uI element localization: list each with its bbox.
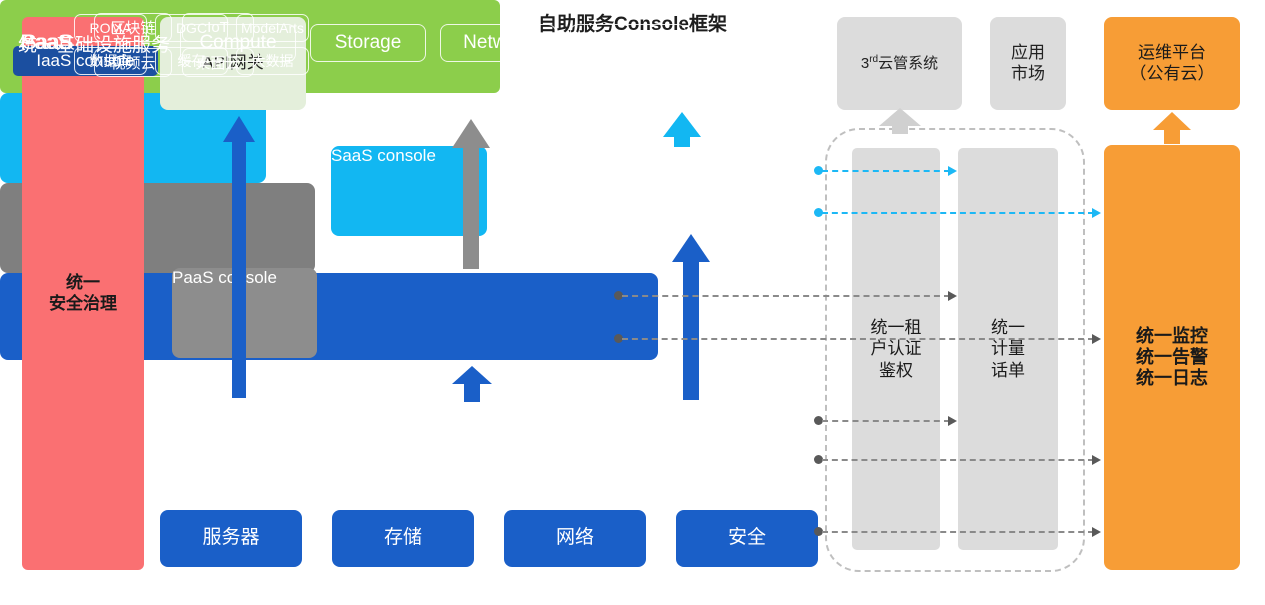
architecture-diagram: 统一 安全治理 API网关 自助服务Console框架 IaaS console… xyxy=(0,0,1265,605)
dashed-infra-to-ops xyxy=(822,459,1094,461)
dashed-saas-to-auth xyxy=(822,170,950,172)
arrowhead-paas-to-ops xyxy=(1092,334,1101,344)
arrow-infra-to-paas xyxy=(452,366,492,402)
arrowhead-infra-to-auth xyxy=(948,416,957,426)
arrowhead-infra-to-ops xyxy=(1092,455,1101,465)
app-market-block: 应用 市场 xyxy=(990,17,1066,110)
app-market-label: 应用 市场 xyxy=(1011,43,1045,83)
infra-chip-cce[interactable]: CCE xyxy=(570,24,686,62)
unified-security-governance-block: 统一 安全治理 xyxy=(22,17,144,570)
hardware-server-block: 服务器 xyxy=(160,510,302,567)
unified-metering-label: 统一 计量 话单 xyxy=(991,317,1025,381)
infra-chip-compute[interactable]: Compute xyxy=(180,24,296,62)
dashed-paas-to-ops xyxy=(622,338,1094,340)
infra-chip-network[interactable]: Network xyxy=(440,24,556,62)
paas-console-button[interactable]: PaaS console xyxy=(172,268,317,358)
unified-infrastructure-label: 统一基础设施服务 xyxy=(18,30,170,57)
ordinal-suffix: rd xyxy=(869,54,878,65)
hardware-security-block: 安全 xyxy=(676,510,818,567)
arrowhead-saas-to-ops xyxy=(1092,208,1101,218)
arrowhead-paas-to-auth xyxy=(948,291,957,301)
dashed-paas-to-auth xyxy=(622,295,950,297)
infra-chip-storage[interactable]: Storage xyxy=(310,24,426,62)
ops-monitoring-column: 统一监控 统一告警 统一日志 xyxy=(1104,145,1240,570)
unified-security-governance-label: 统一 安全治理 xyxy=(49,273,117,313)
dashed-infra-to-auth xyxy=(822,420,950,422)
third-party-cloud-mgmt-block: 3rd云管系统 xyxy=(837,17,962,110)
arrowhead-saas-to-auth xyxy=(948,166,957,176)
unified-auth-column: 统一租 户认证 鉴权 xyxy=(852,148,940,550)
ops-platform-label: 运维平台 （公有云） xyxy=(1130,43,1215,83)
arrowhead-hardware-to-ops xyxy=(1092,527,1101,537)
saas-console-button[interactable]: SaaS console xyxy=(331,146,487,236)
third-party-cloud-mgmt-label: 3rd云管系统 xyxy=(861,54,938,73)
hardware-network-block: 网络 xyxy=(504,510,646,567)
dashed-hardware-to-ops xyxy=(822,531,1094,533)
hardware-storage-block: 存储 xyxy=(332,510,474,567)
arrow-infra-to-saas xyxy=(672,234,710,400)
unified-auth-label: 统一租 户认证 鉴权 xyxy=(871,317,922,381)
dashed-saas-to-ops xyxy=(822,212,1094,214)
arrow-ops-column-to-ops-platform xyxy=(1153,112,1191,144)
arrow-saas-to-console xyxy=(663,112,701,147)
ops-platform-block: 运维平台 （公有云） xyxy=(1104,17,1240,110)
ops-monitoring-label: 统一监控 统一告警 统一日志 xyxy=(1136,326,1208,390)
unified-metering-column: 统一 计量 话单 xyxy=(958,148,1058,550)
